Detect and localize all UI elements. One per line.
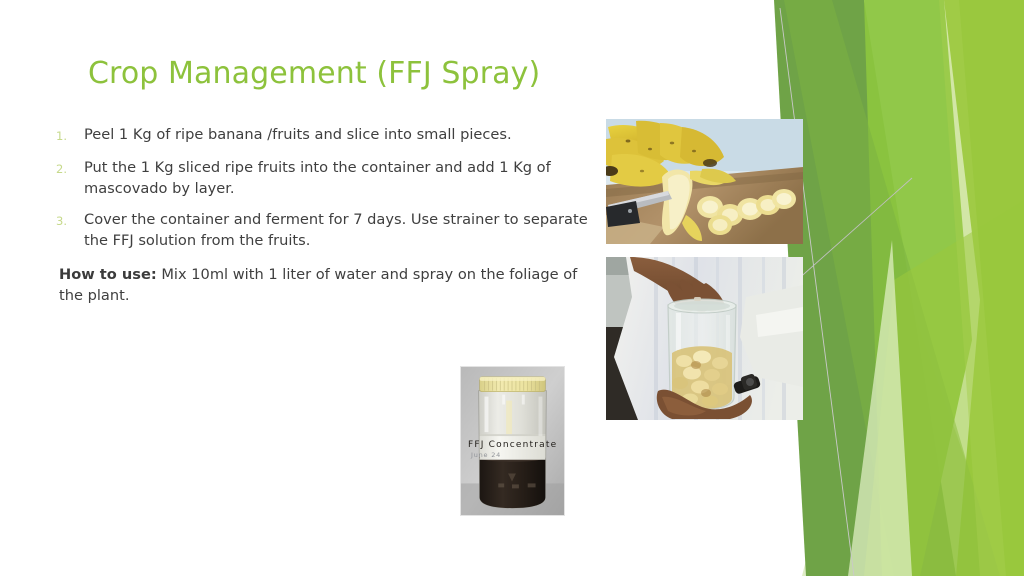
image-hands-holding-glass-jar-of-sliced-fruit [606, 257, 803, 420]
decor-shape-green-lime-lower [864, 200, 1024, 576]
image-ffj-concentrate-jar: FFJ Concentrate June 24 [460, 366, 565, 516]
list-item: 1. Peel 1 Kg of ripe banana /fruits and … [54, 124, 600, 147]
decor-shape-green-sliver-2 [939, 0, 1006, 576]
decor-shape-green-sliver [848, 240, 912, 576]
list-item: 3. Cover the container and ferment for 7… [54, 209, 600, 251]
jar-label-line1: FFJ Concentrate [468, 440, 557, 450]
list-item-label: Put the 1 Kg sliced ripe fruits into the… [84, 157, 600, 199]
decor-shape-pale-left [802, 330, 919, 576]
list-item-number: 2. [54, 157, 84, 180]
decor-shape-green-bright-top [864, 0, 972, 576]
slide-canvas: Crop Management (FFJ Spray) 1. Peel 1 Kg… [0, 0, 1024, 576]
how-to-use-paragraph: How to use: Mix 10ml with 1 liter of wat… [54, 264, 600, 306]
list-item-number: 1. [54, 124, 84, 147]
how-to-use-lead: How to use: [59, 266, 157, 283]
image-ripe-bananas-sliced-on-cutting-board [606, 119, 803, 244]
page-title: Crop Management (FFJ Spray) [88, 56, 648, 91]
decor-shape-pale-wide [840, 270, 1006, 576]
content-body: 1. Peel 1 Kg of ripe banana /fruits and … [54, 124, 600, 306]
jar-label-line2: June 24 [471, 451, 501, 459]
list-item-label: Peel 1 Kg of ripe banana /fruits and sli… [84, 124, 600, 145]
list-item-number: 3. [54, 209, 84, 232]
decor-shape-green-lime-right [944, 0, 1024, 576]
list-item: 2. Put the 1 Kg sliced ripe fruits into … [54, 157, 600, 199]
list-item-label: Cover the container and ferment for 7 da… [84, 209, 600, 251]
decor-shape-green-mid-overlay [784, 0, 1000, 576]
